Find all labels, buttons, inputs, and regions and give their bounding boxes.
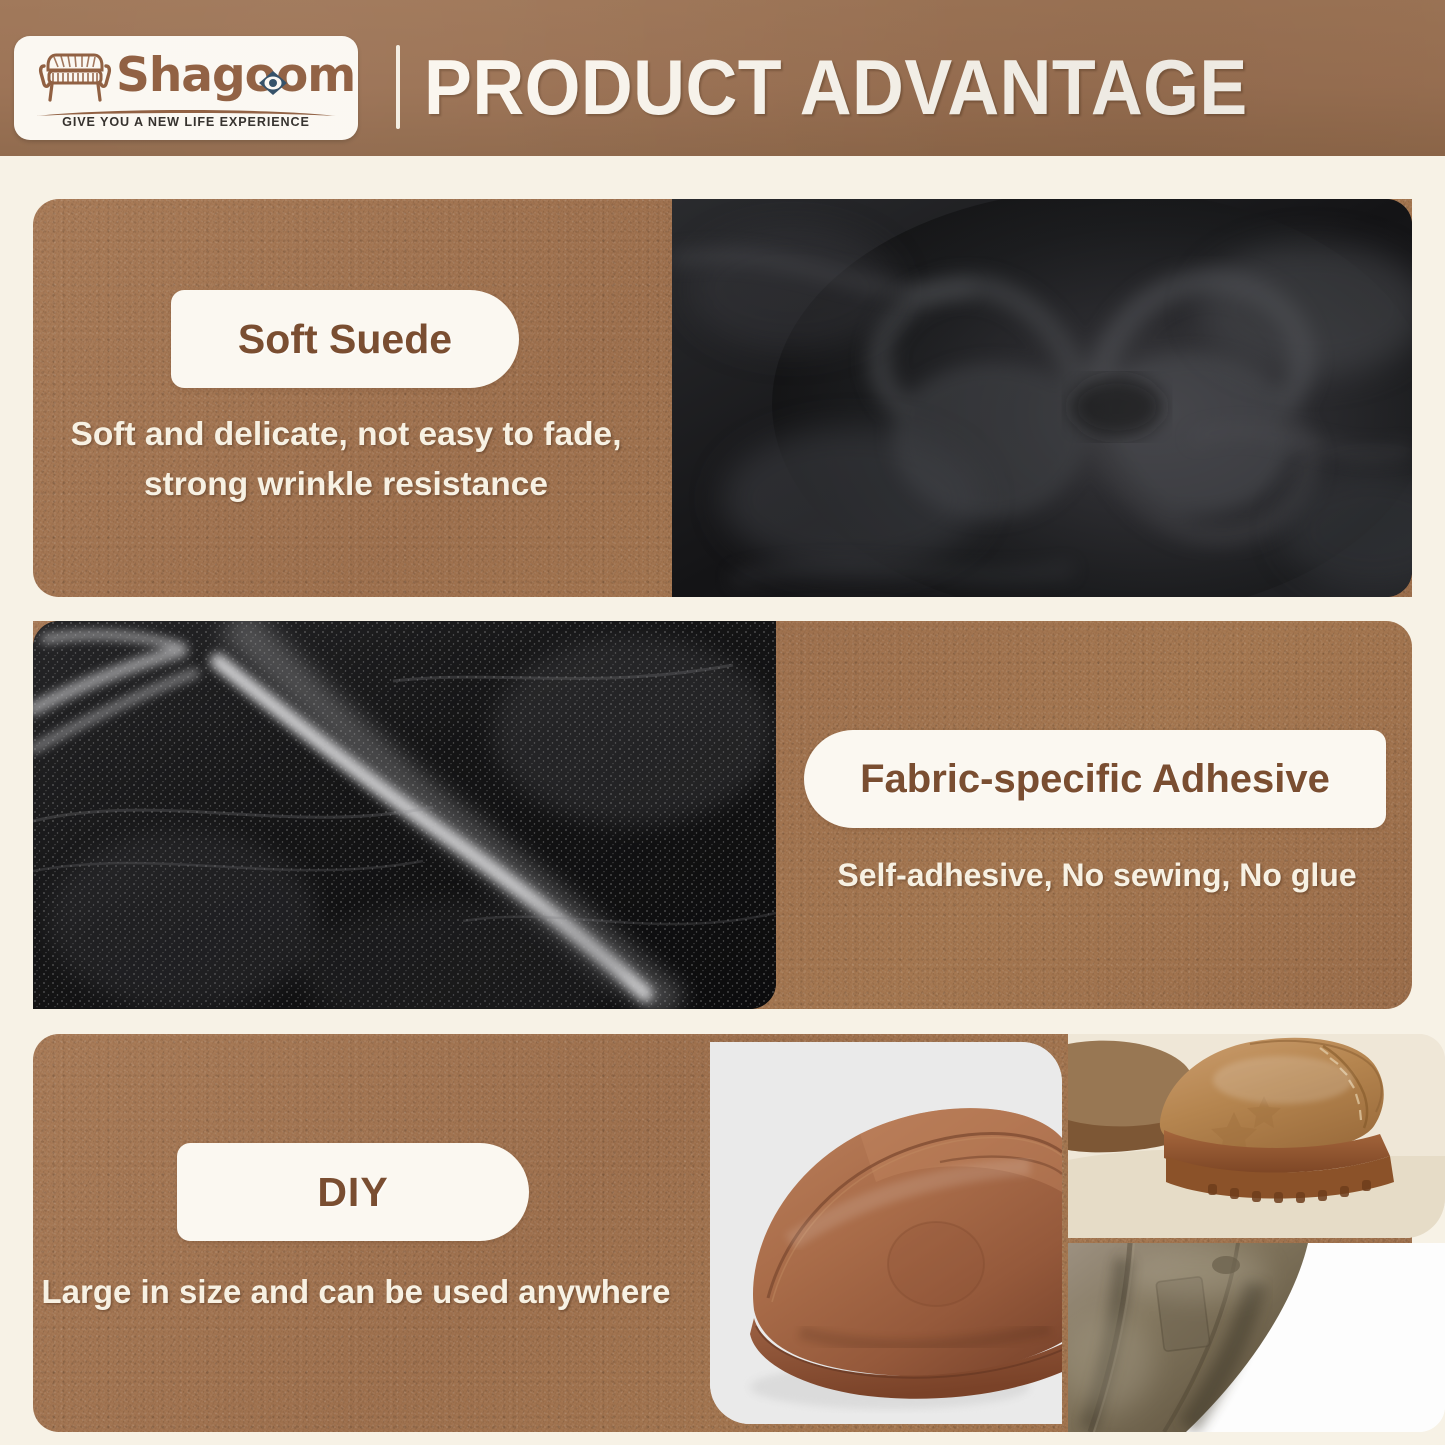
armchair-icon xyxy=(38,50,112,106)
brand-tagline: GIVE YOU A NEW LIFE EXPERIENCE xyxy=(14,115,358,129)
brand-name: Shagoom xyxy=(116,42,355,110)
image-olive-suede-jacket xyxy=(1068,1243,1445,1432)
page-title: PRODUCT ADVANTAGE xyxy=(424,38,1344,136)
infographic-page: Shagoom GIVE YOU A NEW LIFE EXPERIENCE P… xyxy=(0,0,1445,1445)
feature-description-soft-suede: Soft and delicate, not easy to fade, str… xyxy=(42,410,650,510)
image-brown-suede-flat-cap xyxy=(710,1042,1062,1424)
feature-label-soft-suede: Soft Suede xyxy=(171,290,519,388)
feature-label-text: DIY xyxy=(317,1169,388,1216)
image-black-suede-adhesive-closeup xyxy=(33,621,776,1009)
brand-logo-card: Shagoom GIVE YOU A NEW LIFE EXPERIENCE xyxy=(14,36,358,140)
feature-description-adhesive: Self-adhesive, No sewing, No glue xyxy=(800,852,1394,898)
suede-jacket-graphic xyxy=(1068,1243,1445,1432)
feature-label-text: Fabric-specific Adhesive xyxy=(860,757,1330,802)
platform-boots-graphic xyxy=(1068,1034,1445,1238)
black-suede-closeup-graphic xyxy=(33,621,776,1009)
image-black-suede-fabric-swirl xyxy=(672,199,1412,597)
header-divider xyxy=(396,45,400,129)
flat-cap-graphic xyxy=(710,1042,1062,1424)
image-tan-suede-platform-boots xyxy=(1068,1034,1445,1238)
feature-description-diy: Large in size and can be used anywhere xyxy=(38,1267,674,1317)
feature-label-adhesive: Fabric-specific Adhesive xyxy=(804,730,1386,828)
header-band: Shagoom GIVE YOU A NEW LIFE EXPERIENCE P… xyxy=(0,0,1445,156)
velvet-swirl-graphic xyxy=(672,199,1412,597)
eye-diamond-icon xyxy=(257,69,289,97)
feature-label-diy: DIY xyxy=(177,1143,529,1241)
feature-label-text: Soft Suede xyxy=(238,316,452,363)
